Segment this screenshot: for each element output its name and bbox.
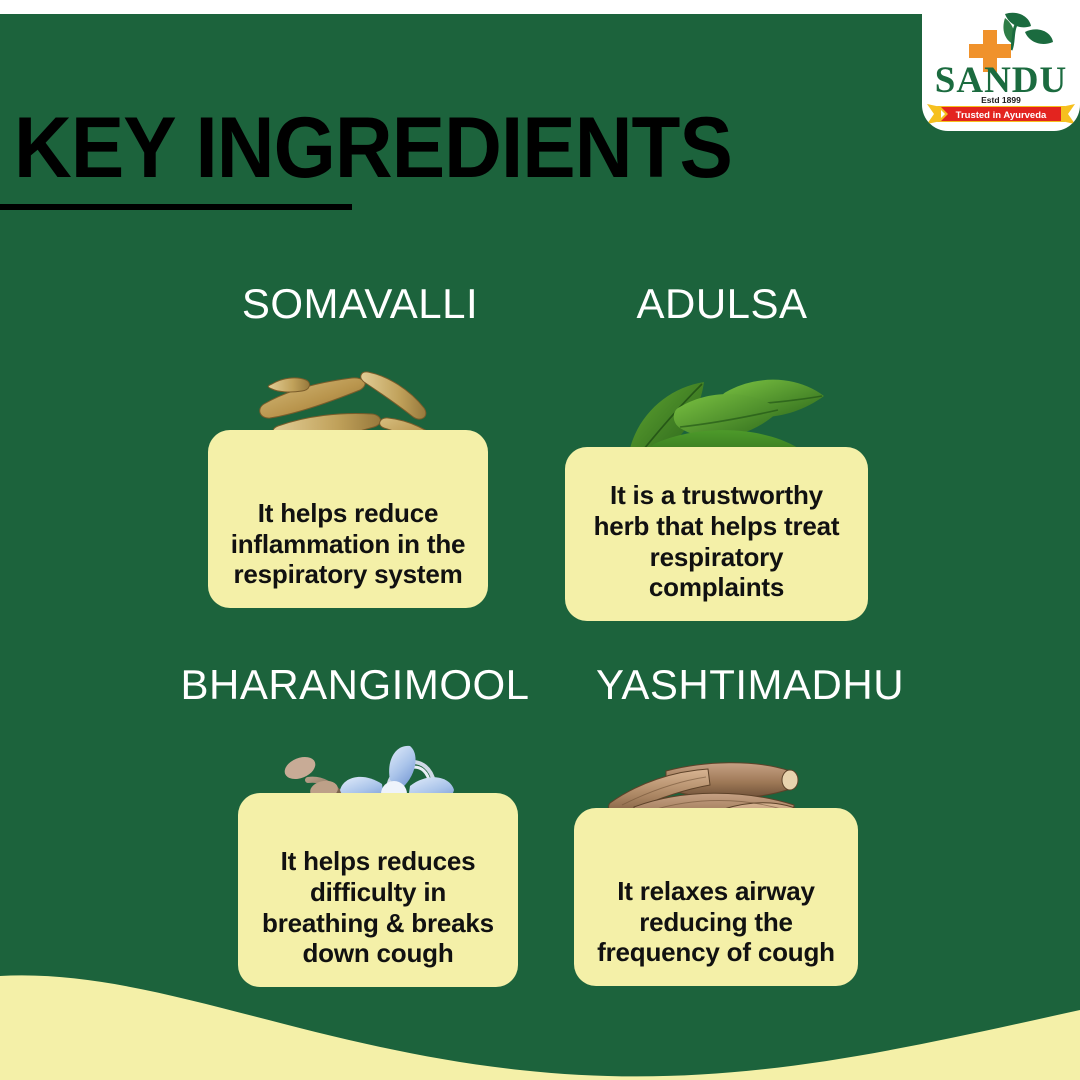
ingredient-description: It helps reduces difficulty in breathing… (238, 846, 518, 987)
page-title: KEY INGREDIENTS (14, 108, 721, 190)
sandu-logo-icon: SANDU Estd 1899 Trusted in Ayurveda (927, 6, 1075, 130)
ingredient-description: It is a trustworthy herb that helps trea… (565, 480, 868, 621)
ingredient-card-bharangimool: It helps reduces difficulty in breathing… (238, 793, 518, 987)
page-title-block: KEY INGREDIENTS (14, 108, 774, 190)
ingredient-heading-somavalli: SOMAVALLI (200, 283, 520, 325)
svg-text:Estd 1899: Estd 1899 (981, 95, 1021, 105)
ingredient-description: It helps reduce inflammation in the resp… (208, 498, 488, 608)
svg-text:Trusted in Ayurveda: Trusted in Ayurveda (956, 110, 1047, 121)
ingredient-heading-adulsa: ADULSA (552, 283, 892, 325)
ingredient-description: It relaxes airway reducing the frequency… (574, 876, 858, 986)
ingredient-heading-yashtimadhu: YASHTIMADHU (575, 664, 925, 706)
ingredient-card-somavalli: It helps reduce inflammation in the resp… (208, 430, 488, 608)
poster-canvas: SANDU Estd 1899 Trusted in Ayurveda KEY … (0, 0, 1080, 1080)
title-underline (0, 204, 352, 210)
ingredient-card-adulsa: It is a trustworthy herb that helps trea… (565, 447, 868, 621)
ingredient-heading-bharangimool: BHARANGIMOOL (170, 664, 540, 706)
brand-logo-badge[interactable]: SANDU Estd 1899 Trusted in Ayurveda (922, 0, 1080, 131)
ingredient-card-yashtimadhu: It relaxes airway reducing the frequency… (574, 808, 858, 986)
